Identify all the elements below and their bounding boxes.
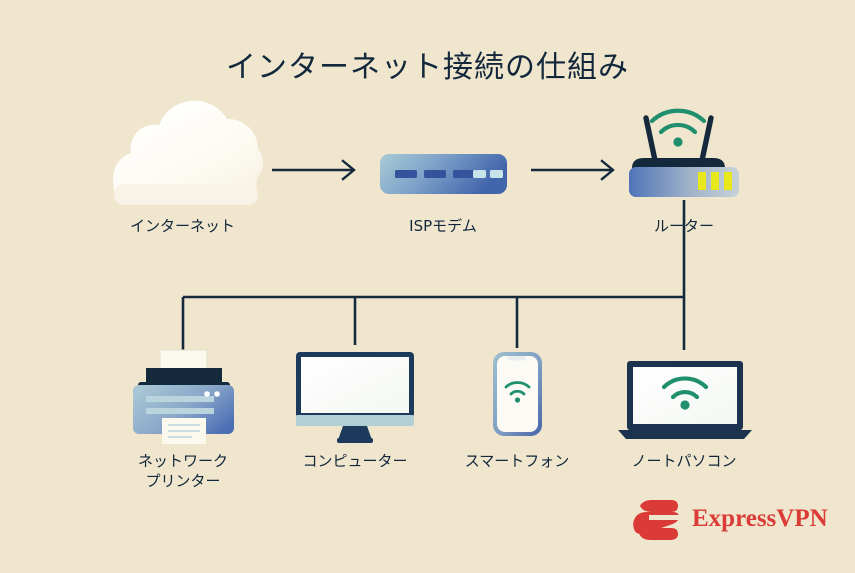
brand-logo-mark-spacer	[630, 497, 683, 540]
label-network-printer: ネットワーク プリンター	[108, 451, 258, 491]
label-router: ルーター	[604, 216, 764, 236]
arrow-right-icon	[531, 161, 613, 179]
label-modem: ISPモデム	[363, 216, 523, 236]
label-internet: インターネット	[100, 216, 265, 236]
brand-logo: ExpressVPN	[630, 497, 828, 540]
printer-icon	[133, 350, 234, 444]
laptop-icon	[618, 361, 752, 439]
label-computer: コンピューター	[280, 451, 430, 471]
modem-icon	[380, 154, 507, 194]
arrow-right-icon	[272, 161, 354, 179]
label-smartphone: スマートフォン	[442, 451, 592, 471]
router-icon	[629, 111, 739, 197]
brand-name: ExpressVPN	[692, 505, 828, 533]
wifi-icon	[652, 111, 704, 132]
cloud-icon	[113, 101, 263, 205]
desktop-computer-icon	[296, 352, 414, 443]
label-laptop: ノートパソコン	[609, 451, 759, 471]
smartphone-icon	[493, 352, 542, 436]
diagram-canvas: インターネット接続の仕組み	[0, 0, 855, 573]
